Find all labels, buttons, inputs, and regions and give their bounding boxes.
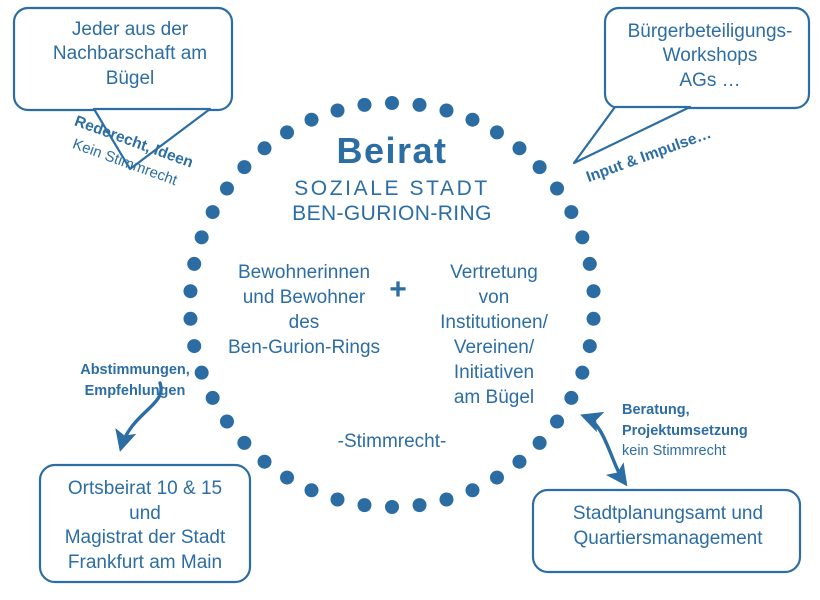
ring-dot xyxy=(220,182,234,196)
center-column-left: Bewohnerinnenund BewohnerdesBen-Gurion-R… xyxy=(214,260,394,360)
ring-dot xyxy=(331,493,345,507)
ring-dot xyxy=(385,96,399,110)
diagram-subtitle-1: SOZIALE STADT xyxy=(242,177,542,201)
ring-dot xyxy=(550,414,564,428)
label-abstimmungen-empfehlungen: Abstimmungen,Empfehlungen xyxy=(40,360,230,402)
bubble-top-right-text: Bürgerbeteiligungs-WorkshopsAGs … xyxy=(612,20,808,93)
ring-dot xyxy=(220,414,234,428)
box-bottom-left-text: Ortsbeirat 10 & 15undMagistrat der Stadt… xyxy=(42,477,248,576)
ring-dot xyxy=(583,339,597,353)
ring-dot xyxy=(575,230,589,244)
box-bottom-right-text: Stadtplanungsamt undQuartiersmanagement xyxy=(538,502,798,551)
ring-dot xyxy=(413,498,427,512)
ring-dot xyxy=(465,113,479,127)
ring-dot xyxy=(550,182,564,196)
plus-icon: + xyxy=(383,275,413,305)
ring-dot xyxy=(465,483,479,497)
ring-dot xyxy=(305,483,319,497)
ring-dot xyxy=(280,471,294,485)
ring-dot xyxy=(357,98,371,112)
ring-dot xyxy=(331,103,345,117)
ring-dot xyxy=(206,205,220,219)
ring-dot xyxy=(490,471,504,485)
bubble-top-left-text: Jeder aus derNachbarschaft amBügel xyxy=(30,18,230,91)
ring-dot xyxy=(183,312,197,326)
ring-dot xyxy=(258,455,272,469)
diagram-subtitle-2: BEN-GURION-RING xyxy=(242,202,542,226)
label-beratung-regular: kein Stimmrecht xyxy=(622,441,812,462)
ring-dot xyxy=(357,498,371,512)
diagram-canvas: Jeder aus derNachbarschaft amBügel Bürge… xyxy=(0,0,820,600)
diagram-title: Beirat xyxy=(242,130,542,172)
ring-dot xyxy=(183,284,197,298)
arrow-beratung xyxy=(584,416,625,483)
ring-dot xyxy=(583,257,597,271)
ring-dot xyxy=(195,230,209,244)
ring-dot xyxy=(533,436,547,450)
ring-dot xyxy=(587,284,601,298)
ring-dot xyxy=(237,436,251,450)
ring-dot xyxy=(305,113,319,127)
label-beratung-bold: Beratung,Projektumsetzung xyxy=(622,402,748,439)
ring-dot xyxy=(187,257,201,271)
ring-dot xyxy=(187,339,201,353)
ring-dot xyxy=(440,103,454,117)
center-footer-note: -Stimmrecht- xyxy=(292,431,492,453)
ring-dot xyxy=(413,98,427,112)
ring-dot xyxy=(575,366,589,380)
ring-dot xyxy=(564,205,578,219)
label-beratung-projektumsetzung: Beratung,Projektumsetzung kein Stimmrech… xyxy=(622,400,812,462)
ring-dot xyxy=(385,500,399,514)
ring-dot xyxy=(587,312,601,326)
ring-dot xyxy=(440,493,454,507)
center-column-right: VertretungvonInstitutionen/Vereinen/Init… xyxy=(418,260,570,410)
ring-dot xyxy=(512,455,526,469)
